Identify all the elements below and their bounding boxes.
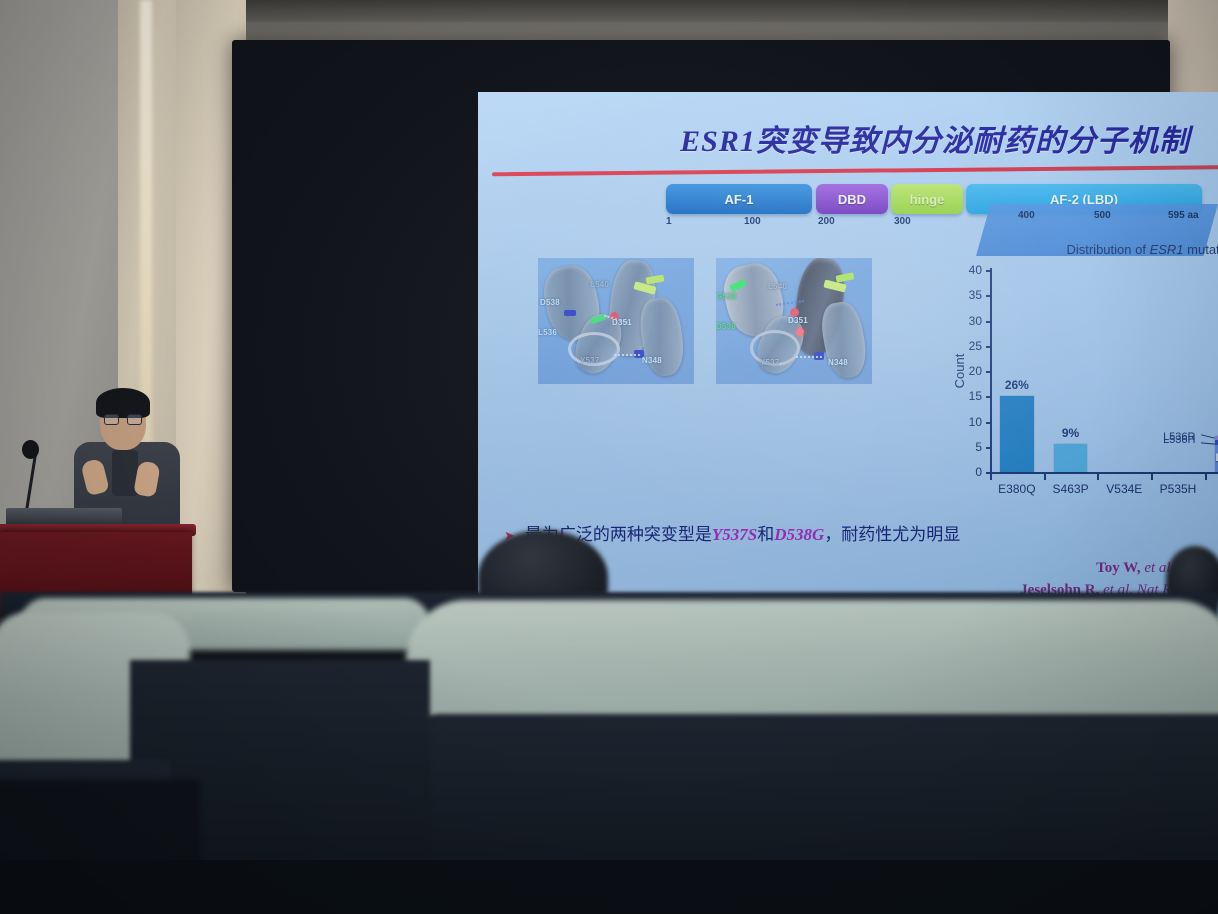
domain-tick-300: 300 (894, 216, 911, 227)
chart-bar (1054, 444, 1087, 472)
y-tick (986, 422, 992, 424)
y-tick-label: 25 (969, 339, 982, 353)
y-tick-label: 15 (969, 389, 982, 403)
title-underline-rule (492, 164, 1218, 177)
chart-value-label: 26% (1000, 378, 1033, 392)
callout-tick-595: 595 aa (1168, 210, 1199, 221)
x-tick (1151, 474, 1153, 480)
y-tick-label: 5 (975, 440, 982, 454)
domain-tick-1: 1 (666, 216, 672, 227)
residue-label-g538: G538 (716, 292, 736, 301)
residue-label-n348-mut: N348 (828, 358, 848, 367)
chart-title-prefix: Distribution of (1066, 242, 1149, 257)
chart-title: Distribution of ESR1 mutations (930, 242, 1218, 257)
y-tick (986, 321, 992, 323)
chart-callout-label: L536H (1163, 434, 1195, 446)
bullet-suffix: ，耐药性尤为明显 (824, 525, 960, 544)
callout-tick-500: 500 (1094, 210, 1111, 221)
bullet-text: 最为广泛的两种突变型是Y537S和D538G，耐药性尤为明显 (525, 520, 960, 545)
bullet-mutation-a: Y537S (712, 525, 757, 544)
x-axis-label: S463P (1053, 482, 1089, 496)
y-tick-label: 40 (969, 263, 982, 277)
x-tick (1205, 474, 1207, 480)
y-tick (986, 270, 992, 272)
residue-label-d351: D351 (612, 318, 632, 327)
bullet-conjunction: 和 (757, 525, 774, 544)
x-tick (1044, 474, 1046, 480)
bullet-row: ➤ 最为广泛的两种突变型是Y537S和D538G，耐药性尤为明显 (504, 520, 1218, 545)
residue-label-y537: Y537 (580, 356, 599, 365)
chart-title-suffix: mutations (1184, 242, 1218, 257)
speaker-glasses (104, 414, 142, 425)
presentation-slide: ESR1突变导致内分泌耐药的分子机制 AF-1 DBD hinge AF-2 (… (478, 92, 1218, 620)
y-tick-label: 0 (975, 465, 982, 479)
x-axis-label: E380Q (998, 482, 1035, 496)
wild-type-structure-image: D538 L540 D351 Y537 N348 L536 (538, 258, 694, 384)
residue-label-d351-mut: D351 (788, 316, 808, 325)
residue-label-d538-mut: D538 (716, 322, 736, 331)
y-tick-label: 20 (969, 364, 982, 378)
x-axis (990, 472, 1218, 474)
residue-label-d538: D538 (540, 298, 560, 307)
projection-screen-bezel: ESR1突变导致内分泌耐药的分子机制 AF-1 DBD hinge AF-2 (… (232, 40, 1170, 592)
microphone-head (22, 440, 39, 459)
residue-label-y537-mut: Y537 (760, 358, 779, 367)
residue-label-l540-mut: L540 (768, 282, 787, 291)
chart-callout-leader (1201, 434, 1215, 438)
residue-label-l540: L540 (590, 280, 609, 289)
floor (0, 860, 1218, 914)
y-tick (986, 371, 992, 373)
chart-bar (1000, 396, 1033, 472)
conference-room: ESR1突变导致内分泌耐药的分子机制 AF-1 DBD hinge AF-2 (… (0, 0, 1218, 914)
chart-callout-leader (1201, 443, 1215, 445)
residue-label-l536: L536 (538, 328, 557, 337)
y-tick (986, 396, 992, 398)
chart-value-label: 9% (1054, 426, 1087, 440)
af2-callout-tick-labels: 400 500 595 aa (976, 210, 1218, 226)
y-tick (986, 447, 992, 449)
d538g-mutant-structure-image: G538 L540 D351 Y537 N348 D538 (716, 258, 872, 384)
domain-hinge: hinge (891, 184, 963, 214)
y-tick (986, 346, 992, 348)
x-axis-label: P535H (1160, 482, 1197, 496)
ref1-authors: Toy W, (1096, 560, 1140, 576)
y-tick-label: 35 (969, 288, 982, 302)
y-tick-label: 30 (969, 314, 982, 328)
callout-tick-400: 400 (1018, 210, 1035, 221)
domain-tick-100: 100 (744, 216, 761, 227)
domain-tick-200: 200 (818, 216, 835, 227)
x-tick (990, 474, 992, 480)
y-axis-title: Count (952, 354, 967, 389)
chart-plot-area: Count 0510152025303540 E380QS463PV534EP5… (990, 268, 1218, 474)
esr1-mutation-distribution-chart: Distribution of ESR1 mutations Count 051… (930, 242, 1218, 542)
y-tick (986, 295, 992, 297)
domain-dbd: DBD (816, 184, 888, 214)
domain-af1: AF-1 (666, 184, 812, 214)
bullet-mutation-b: D538G (774, 525, 824, 544)
x-axis-label: V534E (1106, 482, 1142, 496)
y-tick-label: 10 (969, 415, 982, 429)
residue-label-n348: N348 (642, 356, 662, 365)
x-tick (1097, 474, 1099, 480)
chart-title-gene: ESR1 (1150, 242, 1184, 257)
slide-title: ESR1突变导致内分泌耐药的分子机制 (478, 116, 1218, 160)
